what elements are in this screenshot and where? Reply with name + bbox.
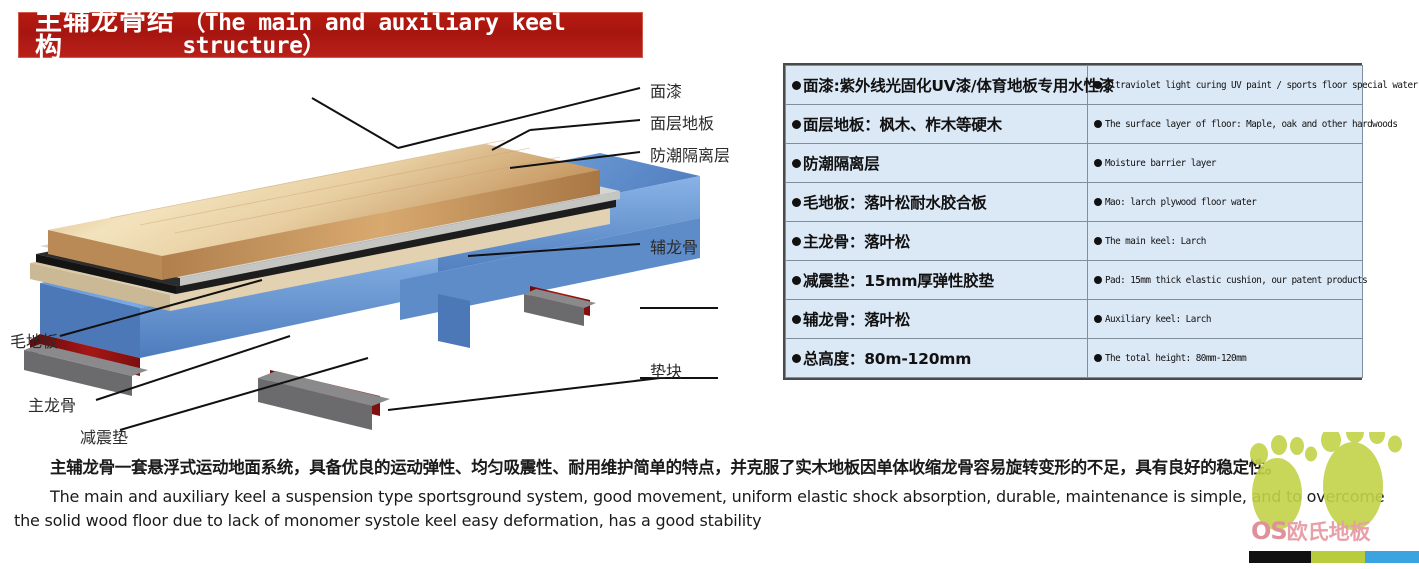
bullet-icon <box>792 120 801 129</box>
bullet-icon <box>1094 81 1102 89</box>
table-row: 主龙骨：落叶松 The main keel: Larch <box>786 222 1363 261</box>
table-cell-cn: 防潮隔离层 <box>786 144 1088 183</box>
table-cell-en: Pad: 15mm thick elastic cushion, our pat… <box>1088 261 1363 300</box>
callout-label-fangchao: 防潮隔离层 <box>650 142 730 166</box>
spec-cn-text: 总高度：80m-120mm <box>803 347 971 369</box>
description-en-text: The main and auxiliary keel a suspension… <box>14 487 1384 530</box>
spec-cn-text: 防潮隔离层 <box>803 152 880 174</box>
table-cell-cn: 主龙骨：落叶松 <box>786 222 1088 261</box>
table-cell-cn: 毛地板：落叶松耐水胶合板 <box>786 183 1088 222</box>
callout-label-miancengdiban: 面层地板 <box>650 110 714 134</box>
bullet-icon <box>792 315 801 324</box>
spec-cn-text: 面漆:紫外线光固化UV漆/体育地板专用水性漆 <box>803 74 1114 96</box>
spec-en-text: The main keel: Larch <box>1105 236 1206 247</box>
bullet-icon <box>792 81 801 90</box>
table-cell-en: The surface layer of floor: Maple, oak a… <box>1088 105 1363 144</box>
bullet-icon <box>1094 198 1102 206</box>
table-row: 面漆:紫外线光固化UV漆/体育地板专用水性漆 Ultraviolet light… <box>786 66 1363 105</box>
table-row: 毛地板：落叶松耐水胶合板 Mao: larch plywood floor wa… <box>786 183 1363 222</box>
bullet-icon <box>1094 354 1102 362</box>
description-paragraph-en: The main and auxiliary keel a suspension… <box>14 485 1405 533</box>
spec-en-text: Mao: larch plywood floor water <box>1105 197 1256 208</box>
bullet-icon <box>792 198 801 207</box>
table-row: 面层地板：枫木、柞木等硬木 The surface layer of floor… <box>786 105 1363 144</box>
spec-cn-text: 面层地板：枫木、柞木等硬木 <box>803 113 1002 135</box>
bullet-icon <box>1094 120 1102 128</box>
page-title-cn: 主辅龙骨结构 <box>35 8 178 62</box>
table-cell-cn: 减震垫：15mm厚弹性胶垫 <box>786 261 1088 300</box>
table-cell-en: Mao: larch plywood floor water <box>1088 183 1363 222</box>
bullet-icon <box>1094 315 1102 323</box>
bullet-icon <box>792 354 801 363</box>
page-title-banner: 主辅龙骨结构 （The main and auxiliary keel stru… <box>18 12 643 58</box>
table-row: 减震垫：15mm厚弹性胶垫 Pad: 15mm thick elastic cu… <box>786 261 1363 300</box>
color-bar-black <box>1249 551 1311 563</box>
table-cell-en: The main keel: Larch <box>1088 222 1363 261</box>
color-bar-blue <box>1365 551 1419 563</box>
spec-cn-text: 毛地板：落叶松耐水胶合板 <box>803 191 987 213</box>
table-cell-en: Auxiliary keel: Larch <box>1088 300 1363 339</box>
bullet-icon <box>1094 276 1102 284</box>
color-bar-green <box>1311 551 1365 563</box>
callout-label-jianzhendian: 减震垫 <box>80 424 128 448</box>
spec-en-text: The total height: 80mm-120mm <box>1105 353 1246 364</box>
spec-cn-text: 辅龙骨：落叶松 <box>803 308 910 330</box>
bullet-icon <box>792 237 801 246</box>
callout-label-fulonggu: 辅龙骨 <box>650 234 698 258</box>
table-cell-en: Ultraviolet light curing UV paint / spor… <box>1088 66 1363 105</box>
brand-color-bar <box>1249 551 1419 563</box>
callout-label-dianku: 垫块 <box>650 358 682 382</box>
spec-en-text: Auxiliary keel: Larch <box>1105 314 1211 325</box>
spec-table-body: 面漆:紫外线光固化UV漆/体育地板专用水性漆 Ultraviolet light… <box>786 66 1363 378</box>
description-block: 主辅龙骨一套悬浮式运动地面系统，具备优良的运动弹性、均匀吸震性、耐用维护简单的特… <box>0 455 1419 533</box>
spec-en-text: Moisture barrier layer <box>1105 158 1216 169</box>
table-cell-en: The total height: 80mm-120mm <box>1088 339 1363 378</box>
callout-label-mianqi: 面漆 <box>650 78 682 102</box>
table-row: 总高度：80m-120mm The total height: 80mm-120… <box>786 339 1363 378</box>
spec-table-element: 面漆:紫外线光固化UV漆/体育地板专用水性漆 Ultraviolet light… <box>785 65 1363 378</box>
keel-structure-diagram: 面漆 面层地板 防潮隔离层 辅龙骨 垫块 毛地板 主龙骨 减震垫 <box>0 58 770 458</box>
spec-en-text: Pad: 15mm thick elastic cushion, our pat… <box>1105 275 1367 286</box>
table-cell-en: Moisture barrier layer <box>1088 144 1363 183</box>
spec-cn-text: 减震垫：15mm厚弹性胶垫 <box>803 269 994 291</box>
table-cell-cn: 总高度：80m-120mm <box>786 339 1088 378</box>
bullet-icon <box>792 159 801 168</box>
callout-label-maodiban: 毛地板 <box>10 328 58 352</box>
table-row: 辅龙骨：落叶松 Auxiliary keel: Larch <box>786 300 1363 339</box>
spec-cn-text: 主龙骨：落叶松 <box>803 230 910 252</box>
description-paragraph-cn: 主辅龙骨一套悬浮式运动地面系统，具备优良的运动弹性、均匀吸震性、耐用维护简单的特… <box>14 455 1405 481</box>
page-title-en: （The main and auxiliary keel structure） <box>182 12 642 58</box>
description-cn-text: 主辅龙骨一套悬浮式运动地面系统，具备优良的运动弹性、均匀吸震性、耐用维护简单的特… <box>50 458 1281 477</box>
table-cell-cn: 面漆:紫外线光固化UV漆/体育地板专用水性漆 <box>786 66 1088 105</box>
table-row: 防潮隔离层 Moisture barrier layer <box>786 144 1363 183</box>
table-cell-cn: 面层地板：枫木、柞木等硬木 <box>786 105 1088 144</box>
bullet-icon <box>1094 237 1102 245</box>
bullet-icon <box>1094 159 1102 167</box>
spec-en-text: The surface layer of floor: Maple, oak a… <box>1105 119 1397 130</box>
spec-en-text: Ultraviolet light curing UV paint / spor… <box>1105 80 1419 91</box>
bullet-icon <box>792 276 801 285</box>
callout-label-zhulonggu: 主龙骨 <box>28 392 76 416</box>
table-cell-cn: 辅龙骨：落叶松 <box>786 300 1088 339</box>
keel-structure-spec-table: 面漆:紫外线光固化UV漆/体育地板专用水性漆 Ultraviolet light… <box>783 63 1362 380</box>
